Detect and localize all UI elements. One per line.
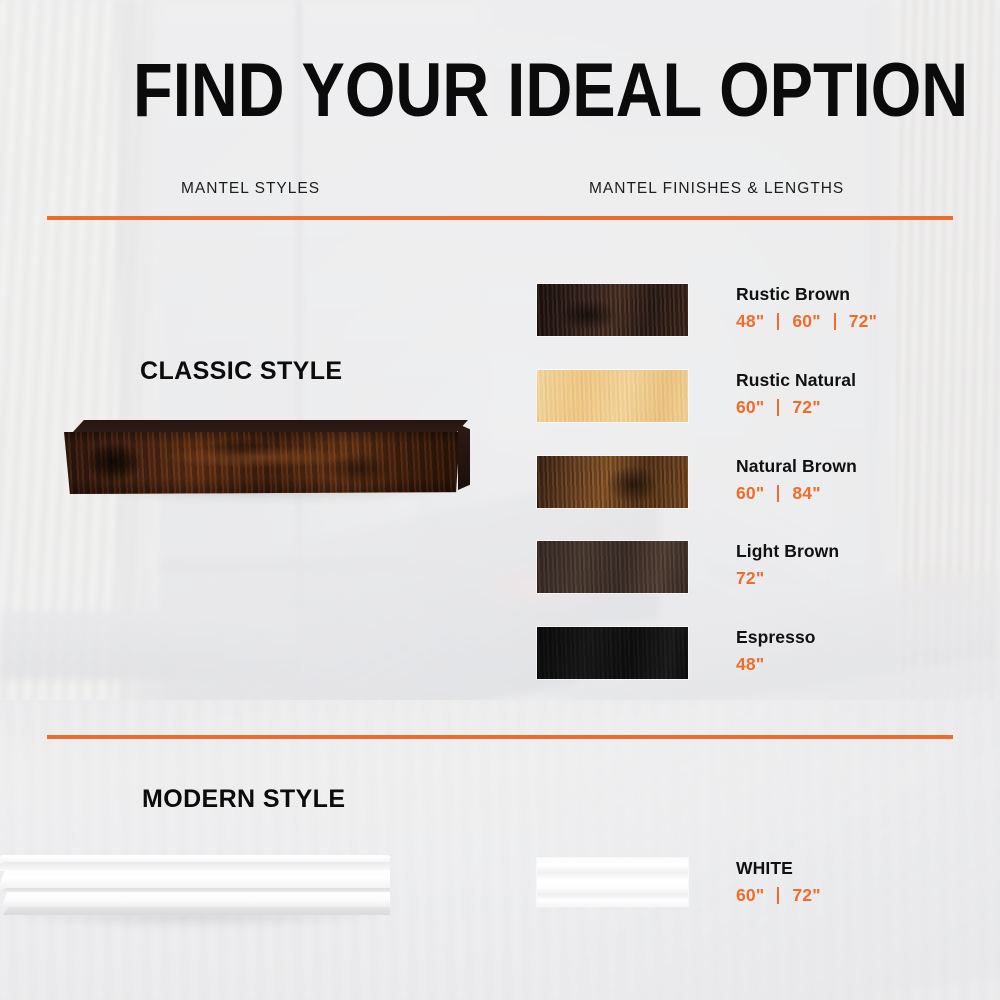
length-option[interactable]: 60" (792, 311, 820, 332)
swatch-grain (537, 541, 688, 593)
finish-lengths: 60" 84" (736, 483, 857, 504)
modern-mantel-band-1 (0, 855, 390, 863)
modern-mantel-band-3 (0, 870, 390, 889)
finish-lengths: 60" 72" (736, 397, 856, 418)
finish-text-group: WHITE 60" 72" (736, 858, 821, 906)
finish-text-group: Espresso 48" (736, 627, 816, 675)
espresso-swatch (537, 627, 688, 679)
length-option[interactable]: 48" (736, 654, 764, 675)
swatch-grain (537, 370, 688, 422)
column-header-mantel-finishes: MANTEL FINISHES & LENGTHS (589, 180, 844, 198)
white-swatch (537, 858, 688, 906)
finish-name: Natural Brown (736, 456, 857, 476)
finish-lengths: 60" 72" (736, 885, 821, 906)
rustic-brown-swatch (537, 284, 688, 336)
swatch-knot (558, 299, 618, 331)
finish-text-group: Rustic Brown 48" 60" 72" (736, 284, 877, 332)
finish-text-group: Rustic Natural 60" 72" (736, 370, 856, 418)
length-option[interactable]: 84" (792, 483, 820, 504)
rustic-natural-swatch (537, 370, 688, 422)
length-option[interactable]: 72" (792, 397, 820, 418)
length-separator (834, 313, 836, 330)
classic-mantel-end-cap (458, 424, 470, 490)
length-option[interactable]: 72" (849, 311, 877, 332)
length-option[interactable]: 72" (736, 568, 764, 589)
natural-brown-swatch (537, 456, 688, 508)
finish-name: WHITE (736, 858, 821, 878)
classic-mantel-highlight (160, 446, 360, 468)
finish-text-group: Light Brown 72" (736, 541, 839, 589)
modern-mantel-band-2 (0, 862, 390, 871)
classic-mantel-top-face (72, 420, 468, 433)
divider-rule-top (47, 216, 953, 220)
swatch-knot (606, 465, 657, 503)
product-image-classic-mantel (64, 420, 468, 498)
length-separator (777, 399, 779, 416)
length-separator (777, 313, 779, 330)
light-brown-swatch (537, 541, 688, 593)
finish-lengths: 48" 60" 72" (736, 311, 877, 332)
classic-mantel-knot-1 (86, 442, 142, 482)
length-option[interactable]: 60" (736, 885, 764, 906)
swatch-grain (537, 627, 688, 679)
finish-lengths: 48" (736, 654, 816, 675)
length-separator (777, 485, 779, 502)
length-option[interactable]: 72" (792, 885, 820, 906)
product-image-modern-mantel (0, 855, 396, 927)
classic-mantel-front-face (64, 432, 460, 494)
finish-lengths: 72" (736, 568, 839, 589)
finish-name: Light Brown (736, 541, 839, 561)
finish-name: Espresso (736, 627, 816, 647)
column-header-mantel-styles: MANTEL STYLES (181, 180, 320, 198)
style-label-modern: MODERN STYLE (142, 785, 345, 814)
finish-name: Rustic Brown (736, 284, 877, 304)
style-label-classic: CLASSIC STYLE (140, 357, 342, 386)
finish-name: Rustic Natural (736, 370, 856, 390)
modern-mantel-body (0, 855, 390, 917)
length-option[interactable]: 48" (736, 311, 764, 332)
modern-mantel-band-6 (0, 907, 390, 915)
finish-text-group: Natural Brown 60" 84" (736, 456, 857, 504)
page-title: FIND YOUR IDEAL OPTION (133, 53, 968, 129)
modern-mantel-band-5 (0, 892, 390, 908)
divider-rule-middle (47, 735, 953, 739)
length-option[interactable]: 60" (736, 483, 764, 504)
length-option[interactable]: 60" (736, 397, 764, 418)
length-separator (777, 887, 779, 904)
